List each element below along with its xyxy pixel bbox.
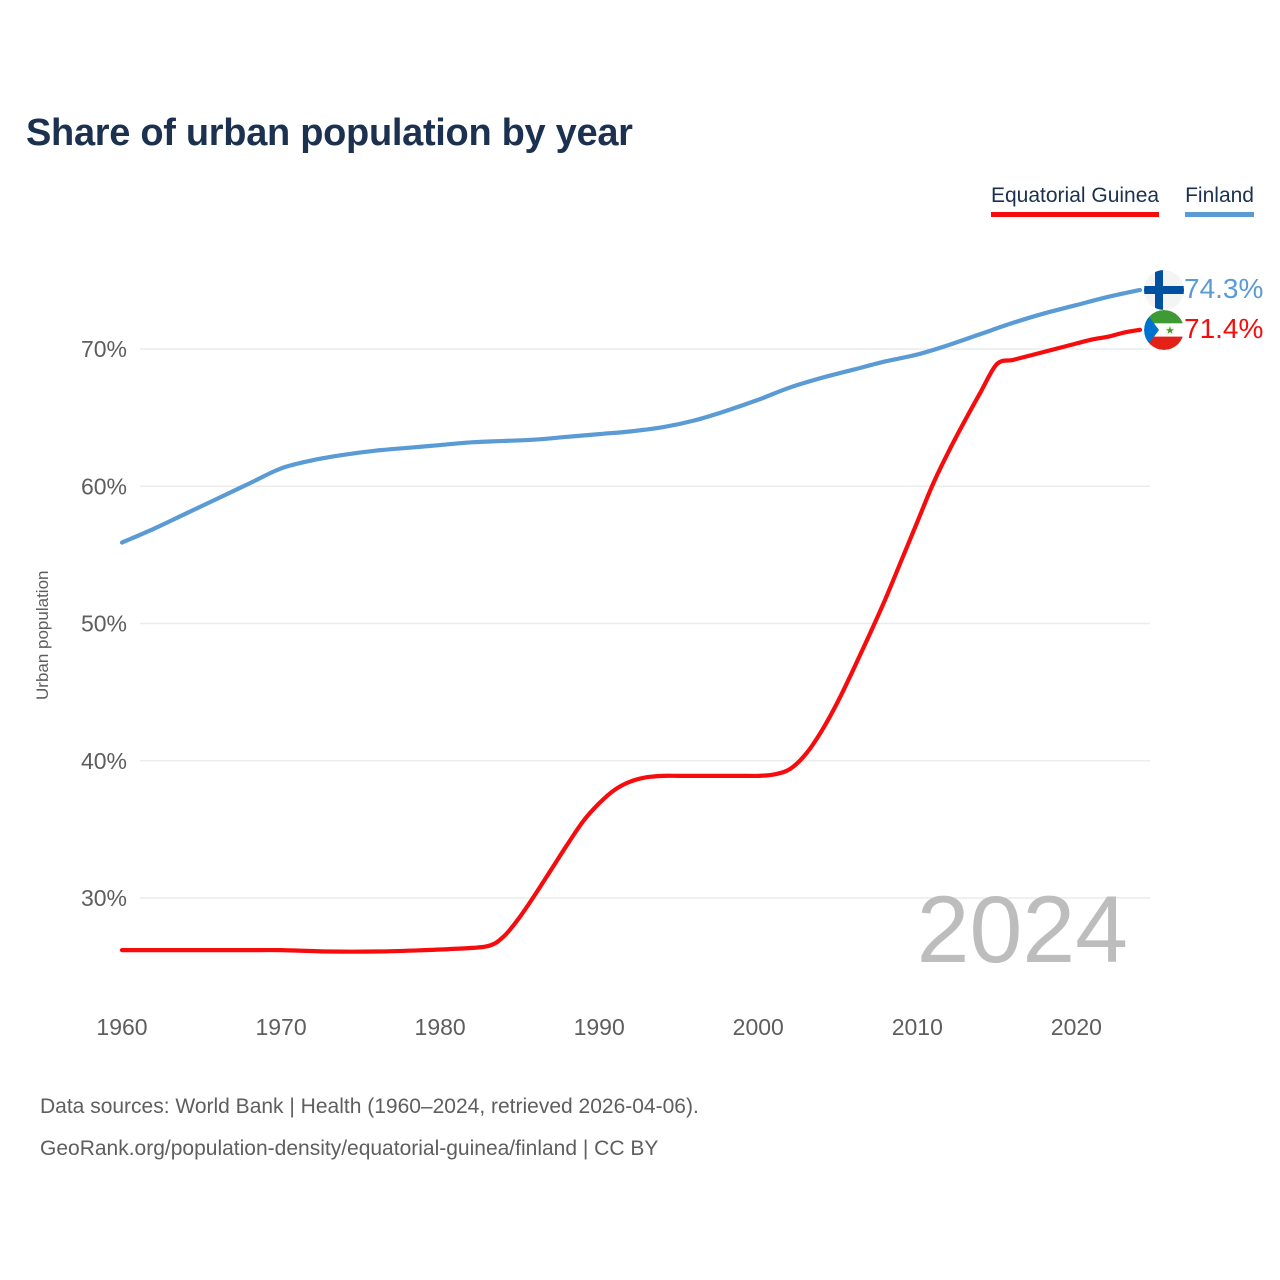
x-tick-label: 1970 [255,1014,306,1040]
x-tick-label: 1980 [415,1014,466,1040]
x-tick-label: 2020 [1051,1014,1102,1040]
y-tick-label: 70% [81,336,127,362]
series-line-equatorial-guinea [122,330,1140,952]
footer-attribution: Data sources: World Bank | Health (1960–… [40,1086,699,1170]
y-axis-ticks: 30%40%50%60%70% [81,336,127,911]
finland-flag-icon [1144,270,1184,310]
equatorial-guinea-flag-icon [1144,310,1184,350]
year-watermark: 2024 [917,877,1128,983]
x-axis-ticks: 1960197019801990200020102020 [96,1014,1102,1040]
series-line-finland [122,290,1140,543]
x-tick-label: 2000 [733,1014,784,1040]
y-tick-label: 60% [81,473,127,499]
y-axis-title: Urban population [33,571,52,700]
footer-line-sources: Data sources: World Bank | Health (1960–… [40,1086,699,1128]
equatorial-guinea-end-value: 71.4% [1184,315,1263,343]
chart-page: Share of urban population by year Equato… [0,0,1280,1280]
y-tick-label: 40% [81,748,127,774]
finland-end-value: 74.3% [1184,275,1263,303]
x-tick-label: 2010 [892,1014,943,1040]
y-tick-label: 30% [81,885,127,911]
x-tick-label: 1990 [574,1014,625,1040]
footer-line-url: GeoRank.org/population-density/equatoria… [40,1128,699,1170]
x-tick-label: 1960 [96,1014,147,1040]
y-tick-label: 50% [81,611,127,637]
series-lines [122,290,1140,952]
